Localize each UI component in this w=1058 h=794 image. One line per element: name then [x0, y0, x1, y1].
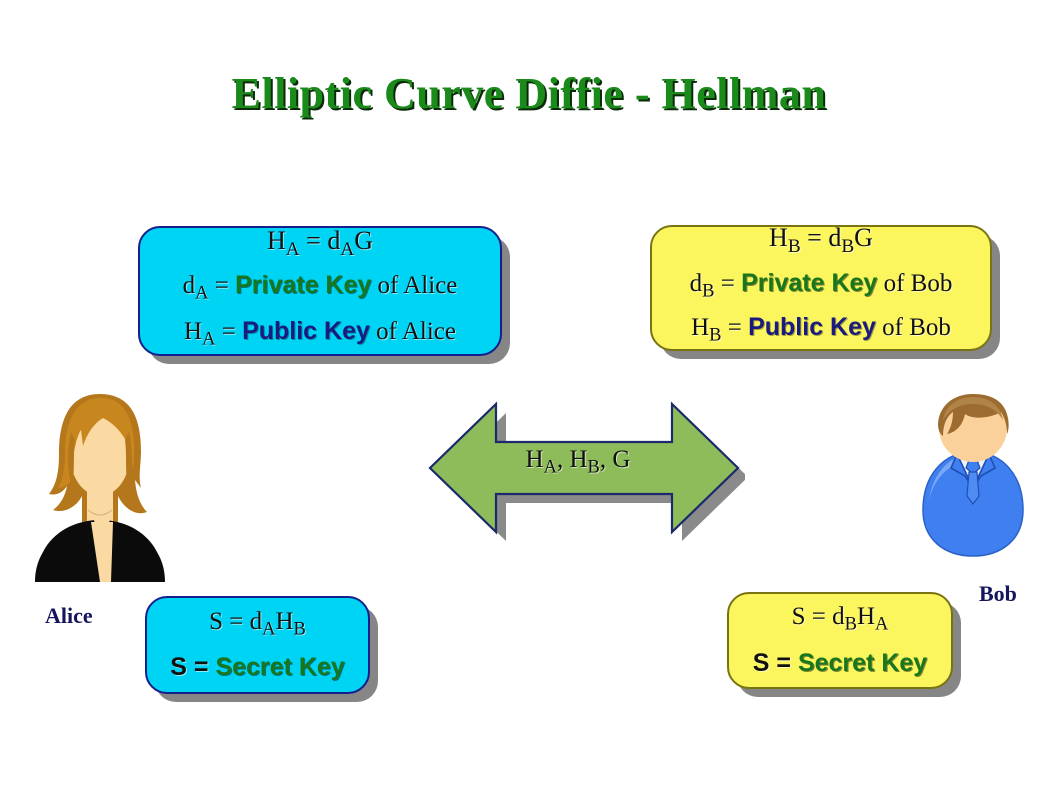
alice-name-label: Alice [45, 603, 93, 629]
text-segment: A [544, 458, 557, 478]
text-segment: of Bob [877, 270, 952, 297]
text-segment: = [215, 318, 242, 345]
bob-name-label: Bob [979, 581, 1017, 607]
text-segment: = d [801, 223, 842, 252]
text-segment: A [262, 619, 275, 639]
text-segment: B [845, 615, 857, 635]
text-segment: S = d [209, 608, 262, 635]
text-segment: = [208, 272, 235, 299]
text-segment: B [709, 326, 721, 346]
text-segment: A [875, 615, 888, 635]
text-segment: H [857, 603, 875, 630]
text-segment: H [526, 446, 544, 473]
text-segment: = d [300, 226, 341, 255]
text-segment: A [340, 238, 354, 259]
box-line: HB = Public Key of Bob [691, 309, 951, 354]
man-avatar-icon [917, 384, 1029, 562]
box-line: dB = Private Key of Bob [690, 265, 953, 310]
box-line: S = Secret Key [170, 648, 344, 687]
text-segment: , G [600, 446, 631, 473]
bob-secret-box: S = dBHAS = Secret Key [727, 592, 953, 689]
text-segment: A [202, 329, 215, 349]
text-segment: = [715, 270, 742, 297]
text-segment: of Alice [370, 318, 456, 345]
text-segment: S = [753, 649, 798, 677]
text-segment: S = d [792, 603, 845, 630]
box-line: S = Secret Key [753, 644, 927, 683]
text-segment: H [691, 314, 709, 341]
text-segment: d [183, 272, 196, 299]
text-segment: Private Key [741, 269, 877, 297]
alice-keys-box: HA = dAGdA = Private Key of AliceHA = Pu… [138, 226, 502, 356]
box-line: dA = Private Key of Alice [183, 267, 458, 313]
text-segment: H [275, 608, 293, 635]
text-segment: Public Key [748, 313, 876, 341]
woman-avatar-icon [25, 392, 175, 584]
box-line: HA = Public Key of Alice [184, 313, 456, 359]
text-segment: Private Key [235, 271, 371, 299]
text-segment: H [184, 318, 202, 345]
bob-keys-box: HB = dBGdB = Private Key of BobHB = Publ… [650, 225, 992, 351]
text-segment: B [294, 619, 306, 639]
text-segment: of Bob [876, 314, 951, 341]
text-segment: , H [557, 446, 588, 473]
text-segment: A [195, 284, 208, 304]
text-segment: B [588, 458, 600, 478]
text-segment: G [854, 223, 873, 252]
text-segment: B [788, 236, 801, 257]
box-line: HB = dBG [769, 220, 873, 265]
text-segment: = [721, 314, 748, 341]
page-title: Elliptic Curve Diffie - Hellman [0, 68, 1058, 119]
text-segment: G [354, 226, 373, 255]
text-segment: Public Key [242, 317, 370, 345]
box-line: S = dBHA [792, 598, 889, 644]
text-segment: Secret Key [215, 653, 344, 681]
text-segment: B [841, 236, 854, 257]
text-segment: Secret Key [798, 649, 927, 677]
text-segment: B [702, 281, 714, 301]
text-segment: A [286, 238, 300, 259]
box-line: S = dAHB [209, 603, 306, 649]
text-segment: of Alice [371, 272, 457, 299]
text-segment: d [690, 270, 703, 297]
alice-secret-box: S = dAHBS = Secret Key [145, 596, 370, 694]
exchange-arrow: HA, HB, G [420, 392, 745, 552]
box-line: HA = dAG [267, 222, 373, 268]
text-segment: H [769, 223, 788, 252]
text-segment: H [267, 226, 286, 255]
exchange-arrow-label: HA, HB, G [420, 446, 736, 479]
text-segment: S = [170, 653, 215, 681]
slide-canvas: Elliptic Curve Diffie - Hellman HA = dAG… [0, 0, 1058, 794]
